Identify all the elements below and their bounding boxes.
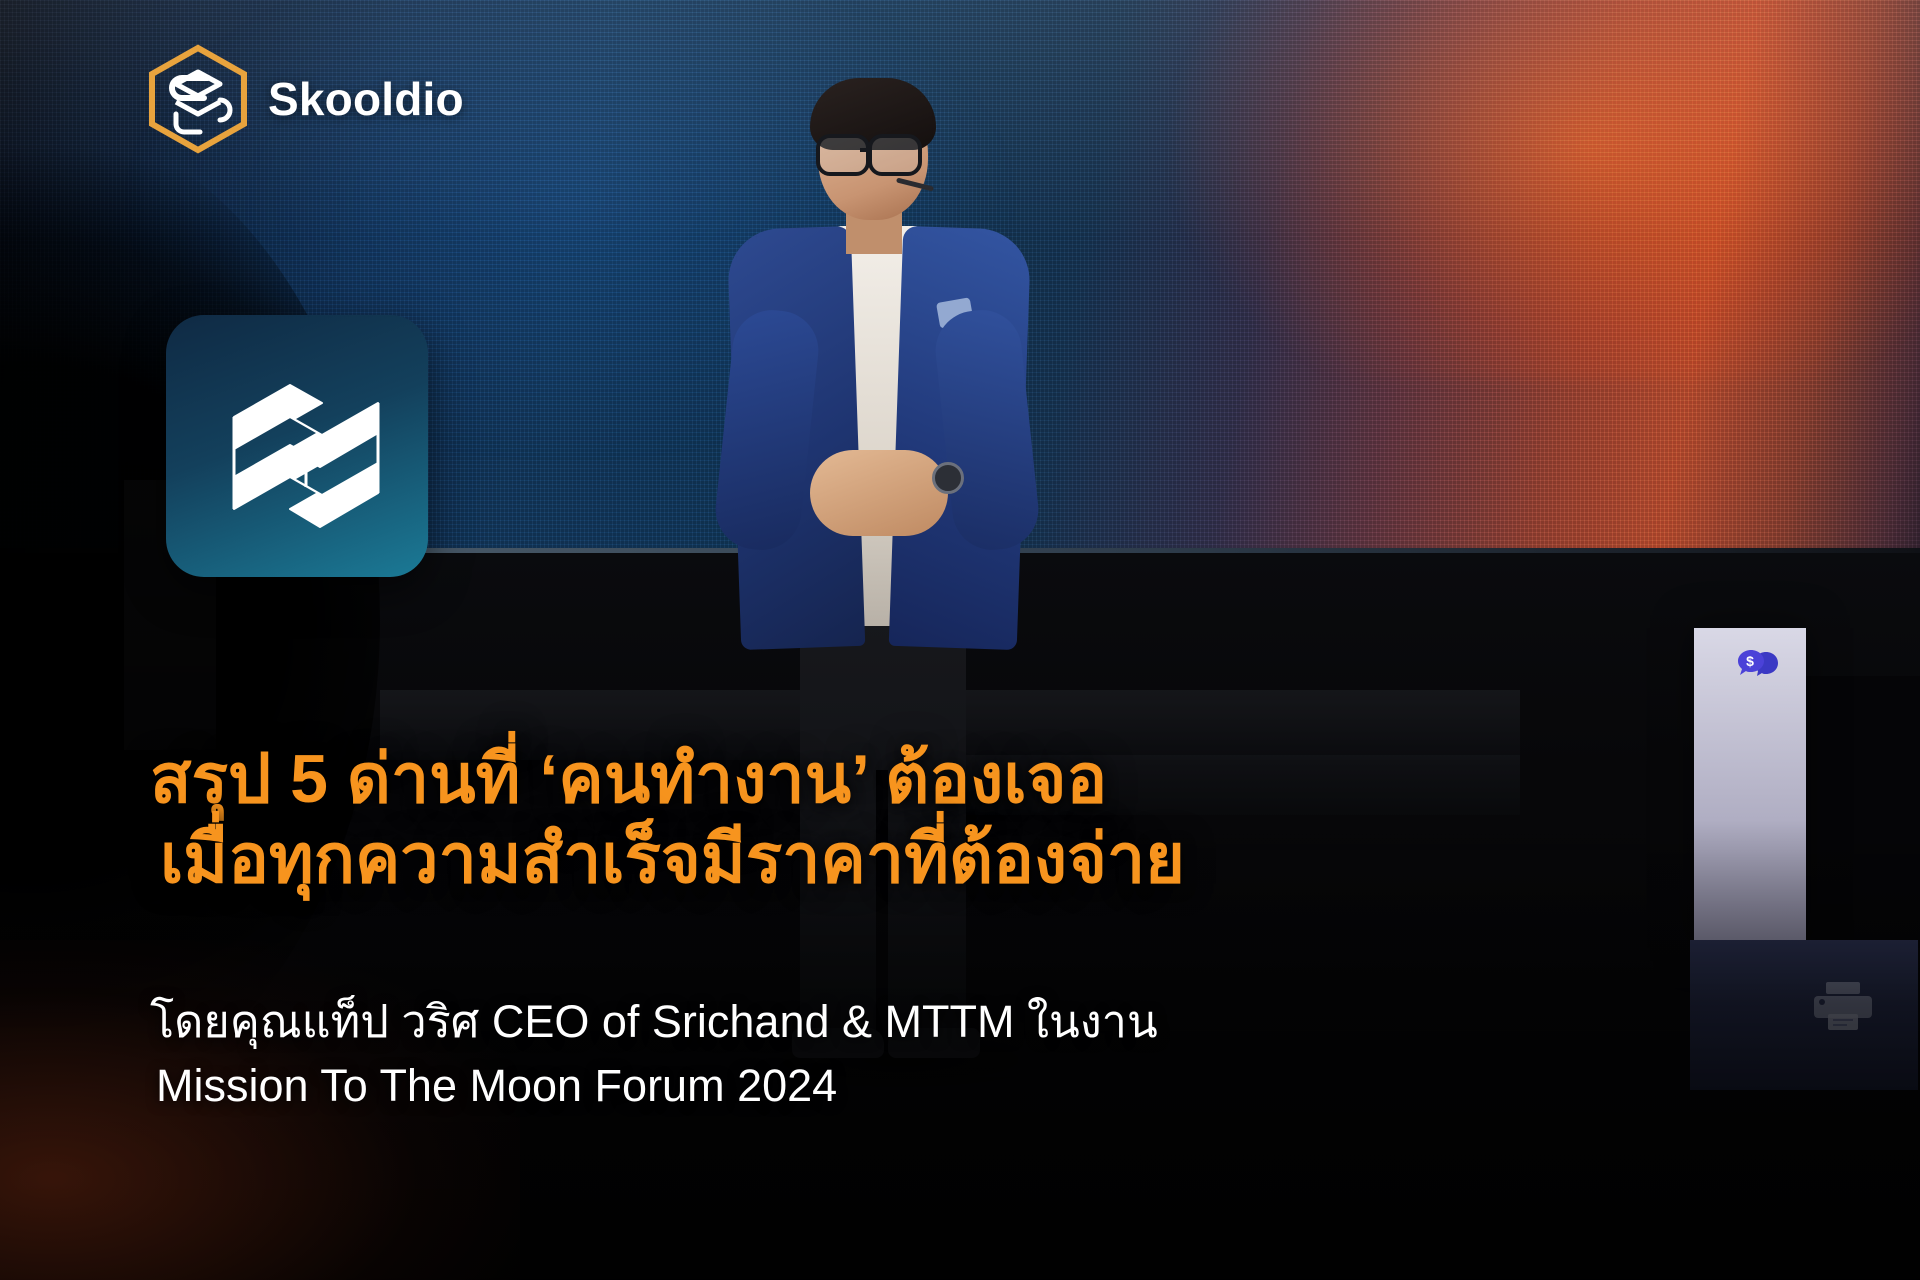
dollar-chat-bubble-icon: $: [1736, 648, 1780, 688]
skooldio-hexagon-logo-icon: [146, 44, 250, 154]
headline: สรุป 5 ด่านที่ ‘คนทำงาน’ ต้องเจอ เมื่อทุ…: [150, 740, 1410, 899]
speaker-glasses-bridge: [860, 148, 872, 152]
brand-name: Skooldio: [268, 72, 464, 126]
speaker-glasses-left: [816, 134, 870, 176]
speaker-wristwatch: [932, 462, 964, 494]
social-card: $: [0, 0, 1920, 1280]
subtitle-line-2: Mission To The Moon Forum 2024: [150, 1054, 1450, 1118]
speaker-glasses-right: [868, 134, 922, 176]
headline-line-1: สรุป 5 ด่านที่ ‘คนทำงาน’ ต้องเจอ: [150, 740, 1410, 820]
subtitle-line-1: โดยคุณแท็ป วริศ CEO of Srichand & MTTM ใ…: [150, 990, 1450, 1054]
subtitle: โดยคุณแท็ป วริศ CEO of Srichand & MTTM ใ…: [150, 990, 1450, 1118]
svg-text:$: $: [1746, 653, 1754, 669]
brand-lockup: Skooldio: [146, 44, 464, 154]
headline-line-2: เมื่อทุกความสำเร็จมีราคาที่ต้องจ่าย: [150, 820, 1410, 900]
led-orange-glow: [1170, 0, 1920, 380]
mission-to-the-moon-logo-tile: [166, 315, 428, 577]
mttm-monogram-icon: [212, 359, 382, 534]
speaker-hands: [810, 450, 948, 536]
